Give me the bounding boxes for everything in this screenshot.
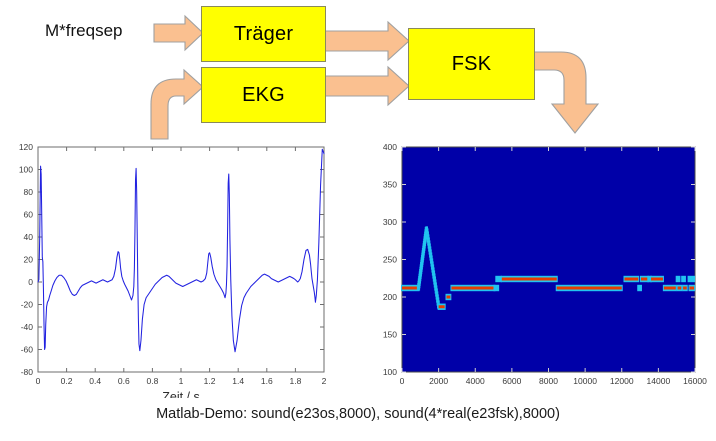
arrow-traeger-to-fsk (324, 22, 409, 60)
spectrogram-band-core (624, 278, 638, 281)
block-diagram: M*freqsep Träger EKG FSK (0, 0, 716, 140)
spectrogram-y-tick-label: 250 (383, 255, 397, 265)
slide-canvas: M*freqsep Träger EKG FSK -80-60-40-20020… (0, 0, 716, 441)
arrow-ekg-to-fsk (324, 67, 409, 105)
spectrogram-band-halo (681, 276, 686, 282)
spectrogram-y-tick-label: 150 (383, 330, 397, 340)
spectrogram-y-tick-label: 100 (383, 367, 397, 377)
spectrogram-x-tick-label: 16000 (683, 376, 707, 386)
spectrogram-chart-svg: 1001502002503003504000200040006000800010… (372, 140, 712, 398)
ecg-x-axis-title: Zeit / s (162, 390, 200, 398)
input-label-freqsep: M*freqsep (45, 21, 122, 41)
spectrogram-band-core (446, 296, 450, 299)
spectrogram-band-core (678, 287, 682, 290)
spectrogram-band-core (451, 287, 494, 290)
ecg-plot-frame (38, 147, 324, 372)
spectrogram-band-core (664, 287, 676, 290)
spectrogram-band-core (402, 287, 418, 290)
ecg-y-tick-label: -20 (21, 300, 34, 310)
spectrogram-band-core (651, 278, 663, 281)
spectrogram-band-halo (637, 285, 642, 291)
block-ekg[interactable]: EKG (201, 67, 326, 123)
ecg-chart: -80-60-40-2002040608010012000.20.40.60.8… (6, 140, 358, 398)
spectrogram-band-core (641, 278, 648, 281)
spectrogram-band-core (502, 278, 557, 281)
spectrogram-band-core (690, 287, 695, 290)
ecg-y-tick-label: -40 (21, 322, 34, 332)
spectrogram-band-core (683, 287, 687, 290)
ecg-y-tick-label: 20 (24, 255, 34, 265)
ecg-y-tick-label: -60 (21, 345, 34, 355)
spectrogram-band-halo (493, 285, 499, 291)
ecg-chart-svg: -80-60-40-2002040608010012000.20.40.60.8… (6, 140, 358, 398)
spectrogram-y-tick-label: 200 (383, 292, 397, 302)
spectrogram-band-core (557, 287, 622, 290)
arrow-input-to-traeger (154, 16, 203, 50)
spectrogram-band-core (439, 305, 445, 308)
ecg-x-tick-label: 0.4 (89, 376, 101, 386)
spectrogram-x-tick-label: 10000 (573, 376, 597, 386)
block-traeger[interactable]: Träger (201, 6, 326, 62)
ecg-y-tick-label: 60 (24, 210, 34, 220)
spectrogram-x-tick-label: 8000 (539, 376, 558, 386)
block-fsk-label: FSK (452, 53, 492, 76)
ecg-x-tick-label: 0 (36, 376, 41, 386)
ecg-y-tick-label: 120 (19, 142, 33, 152)
ecg-x-tick-label: 1.2 (204, 376, 216, 386)
spectrogram-x-tick-label: 0 (400, 376, 405, 386)
arrow-elbow-to-ekg (151, 70, 203, 139)
ecg-x-tick-label: 0.8 (146, 376, 158, 386)
spectrogram-band-halo (688, 276, 695, 282)
ecg-x-tick-label: 1.8 (289, 376, 301, 386)
ecg-y-tick-label: 80 (24, 187, 34, 197)
block-ekg-label: EKG (242, 84, 285, 107)
spectrogram-background (402, 147, 695, 372)
spectrogram-x-tick-label: 2000 (429, 376, 448, 386)
block-fsk[interactable]: FSK (408, 28, 535, 100)
spectrogram-y-tick-label: 350 (383, 180, 397, 190)
spectrogram-x-tick-label: 4000 (466, 376, 485, 386)
ecg-x-tick-label: 1.6 (261, 376, 273, 386)
block-traeger-label: Träger (234, 23, 293, 46)
ecg-x-tick-label: 0.2 (61, 376, 73, 386)
ecg-y-tick-label: 100 (19, 165, 33, 175)
spectrogram-chart: 1001502002503003504000200040006000800010… (372, 140, 712, 398)
ecg-y-tick-label: -80 (21, 367, 34, 377)
spectrogram-x-tick-label: 12000 (610, 376, 634, 386)
ecg-x-tick-label: 0.6 (118, 376, 130, 386)
ecg-x-tick-label: 1 (179, 376, 184, 386)
spectrogram-band-halo (676, 276, 681, 282)
ecg-y-tick-label: 0 (28, 277, 33, 287)
spectrogram-x-tick-label: 6000 (502, 376, 521, 386)
arrow-fsk-output (533, 52, 598, 133)
spectrogram-y-tick-label: 400 (383, 142, 397, 152)
ecg-x-tick-label: 1.4 (232, 376, 244, 386)
ecg-x-tick-label: 2 (322, 376, 327, 386)
spectrogram-x-tick-label: 14000 (647, 376, 671, 386)
spectrogram-y-tick-label: 300 (383, 217, 397, 227)
caption-text: Matlab-Demo: sound(e23os,8000), sound(4*… (0, 406, 716, 422)
ecg-y-tick-label: 40 (24, 232, 34, 242)
